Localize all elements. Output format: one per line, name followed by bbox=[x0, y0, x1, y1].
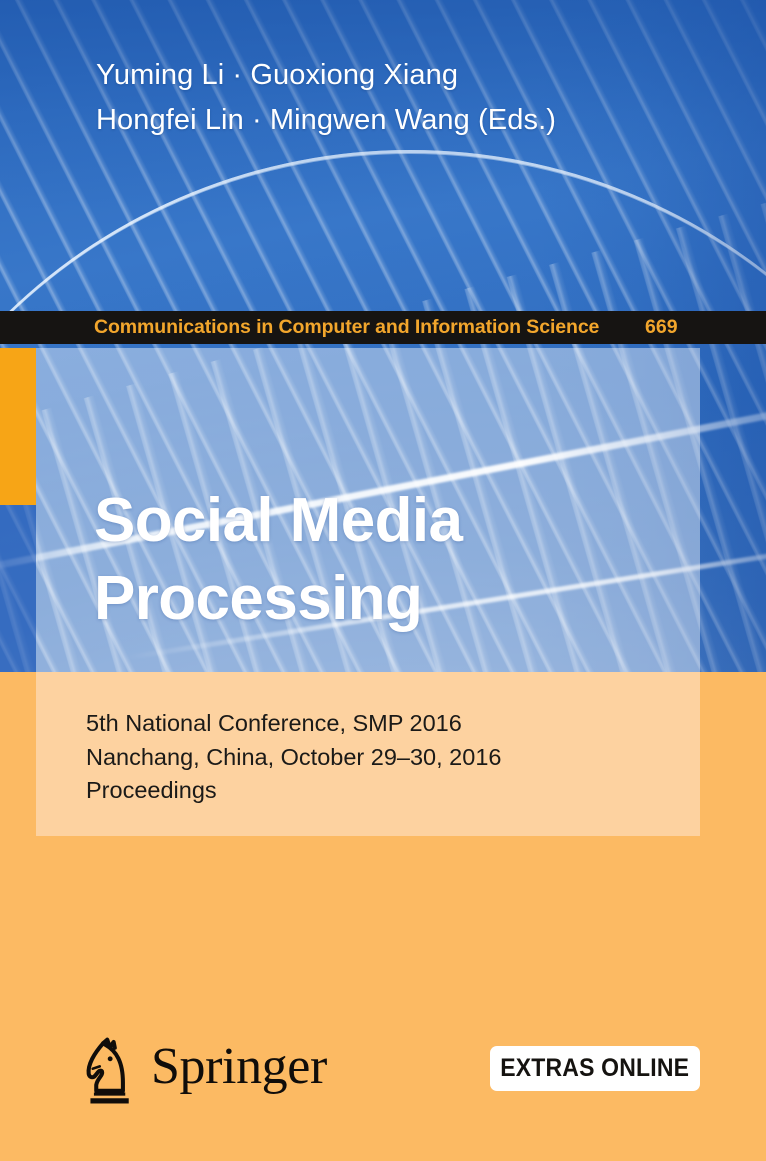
editors-line-2: Hongfei Lin · Mingwen Wang (Eds.) bbox=[96, 98, 716, 143]
series-band: Communications in Computer and Informati… bbox=[0, 311, 766, 344]
springer-knight-icon bbox=[80, 1035, 138, 1107]
left-accent-orange-bar bbox=[0, 348, 36, 505]
title-line-1: Social Media bbox=[94, 482, 694, 560]
editors-line-1: Yuming Li · Guoxiong Xiang bbox=[96, 53, 716, 98]
subtitle-line-2: Nanchang, China, October 29–30, 2016 bbox=[86, 741, 666, 775]
extras-online-label: EXTRAS ONLINE bbox=[501, 1054, 690, 1083]
series-volume-number: 669 bbox=[645, 316, 678, 339]
publisher-name: Springer bbox=[151, 1041, 327, 1093]
publisher-logo: Springer bbox=[80, 1032, 327, 1110]
subtitle-block: 5th National Conference, SMP 2016 Nancha… bbox=[86, 707, 666, 808]
subtitle-line-3: Proceedings bbox=[86, 774, 666, 808]
page-title: Social Media Processing bbox=[94, 482, 694, 638]
extras-online-badge: EXTRAS ONLINE bbox=[490, 1046, 700, 1091]
book-cover: Yuming Li · Guoxiong Xiang Hongfei Lin ·… bbox=[0, 0, 766, 1161]
title-line-2: Processing bbox=[94, 560, 694, 638]
series-title: Communications in Computer and Informati… bbox=[94, 316, 599, 339]
subtitle-line-1: 5th National Conference, SMP 2016 bbox=[86, 707, 666, 741]
editors-block: Yuming Li · Guoxiong Xiang Hongfei Lin ·… bbox=[96, 53, 716, 143]
left-accent-blue-bar bbox=[0, 505, 36, 672]
